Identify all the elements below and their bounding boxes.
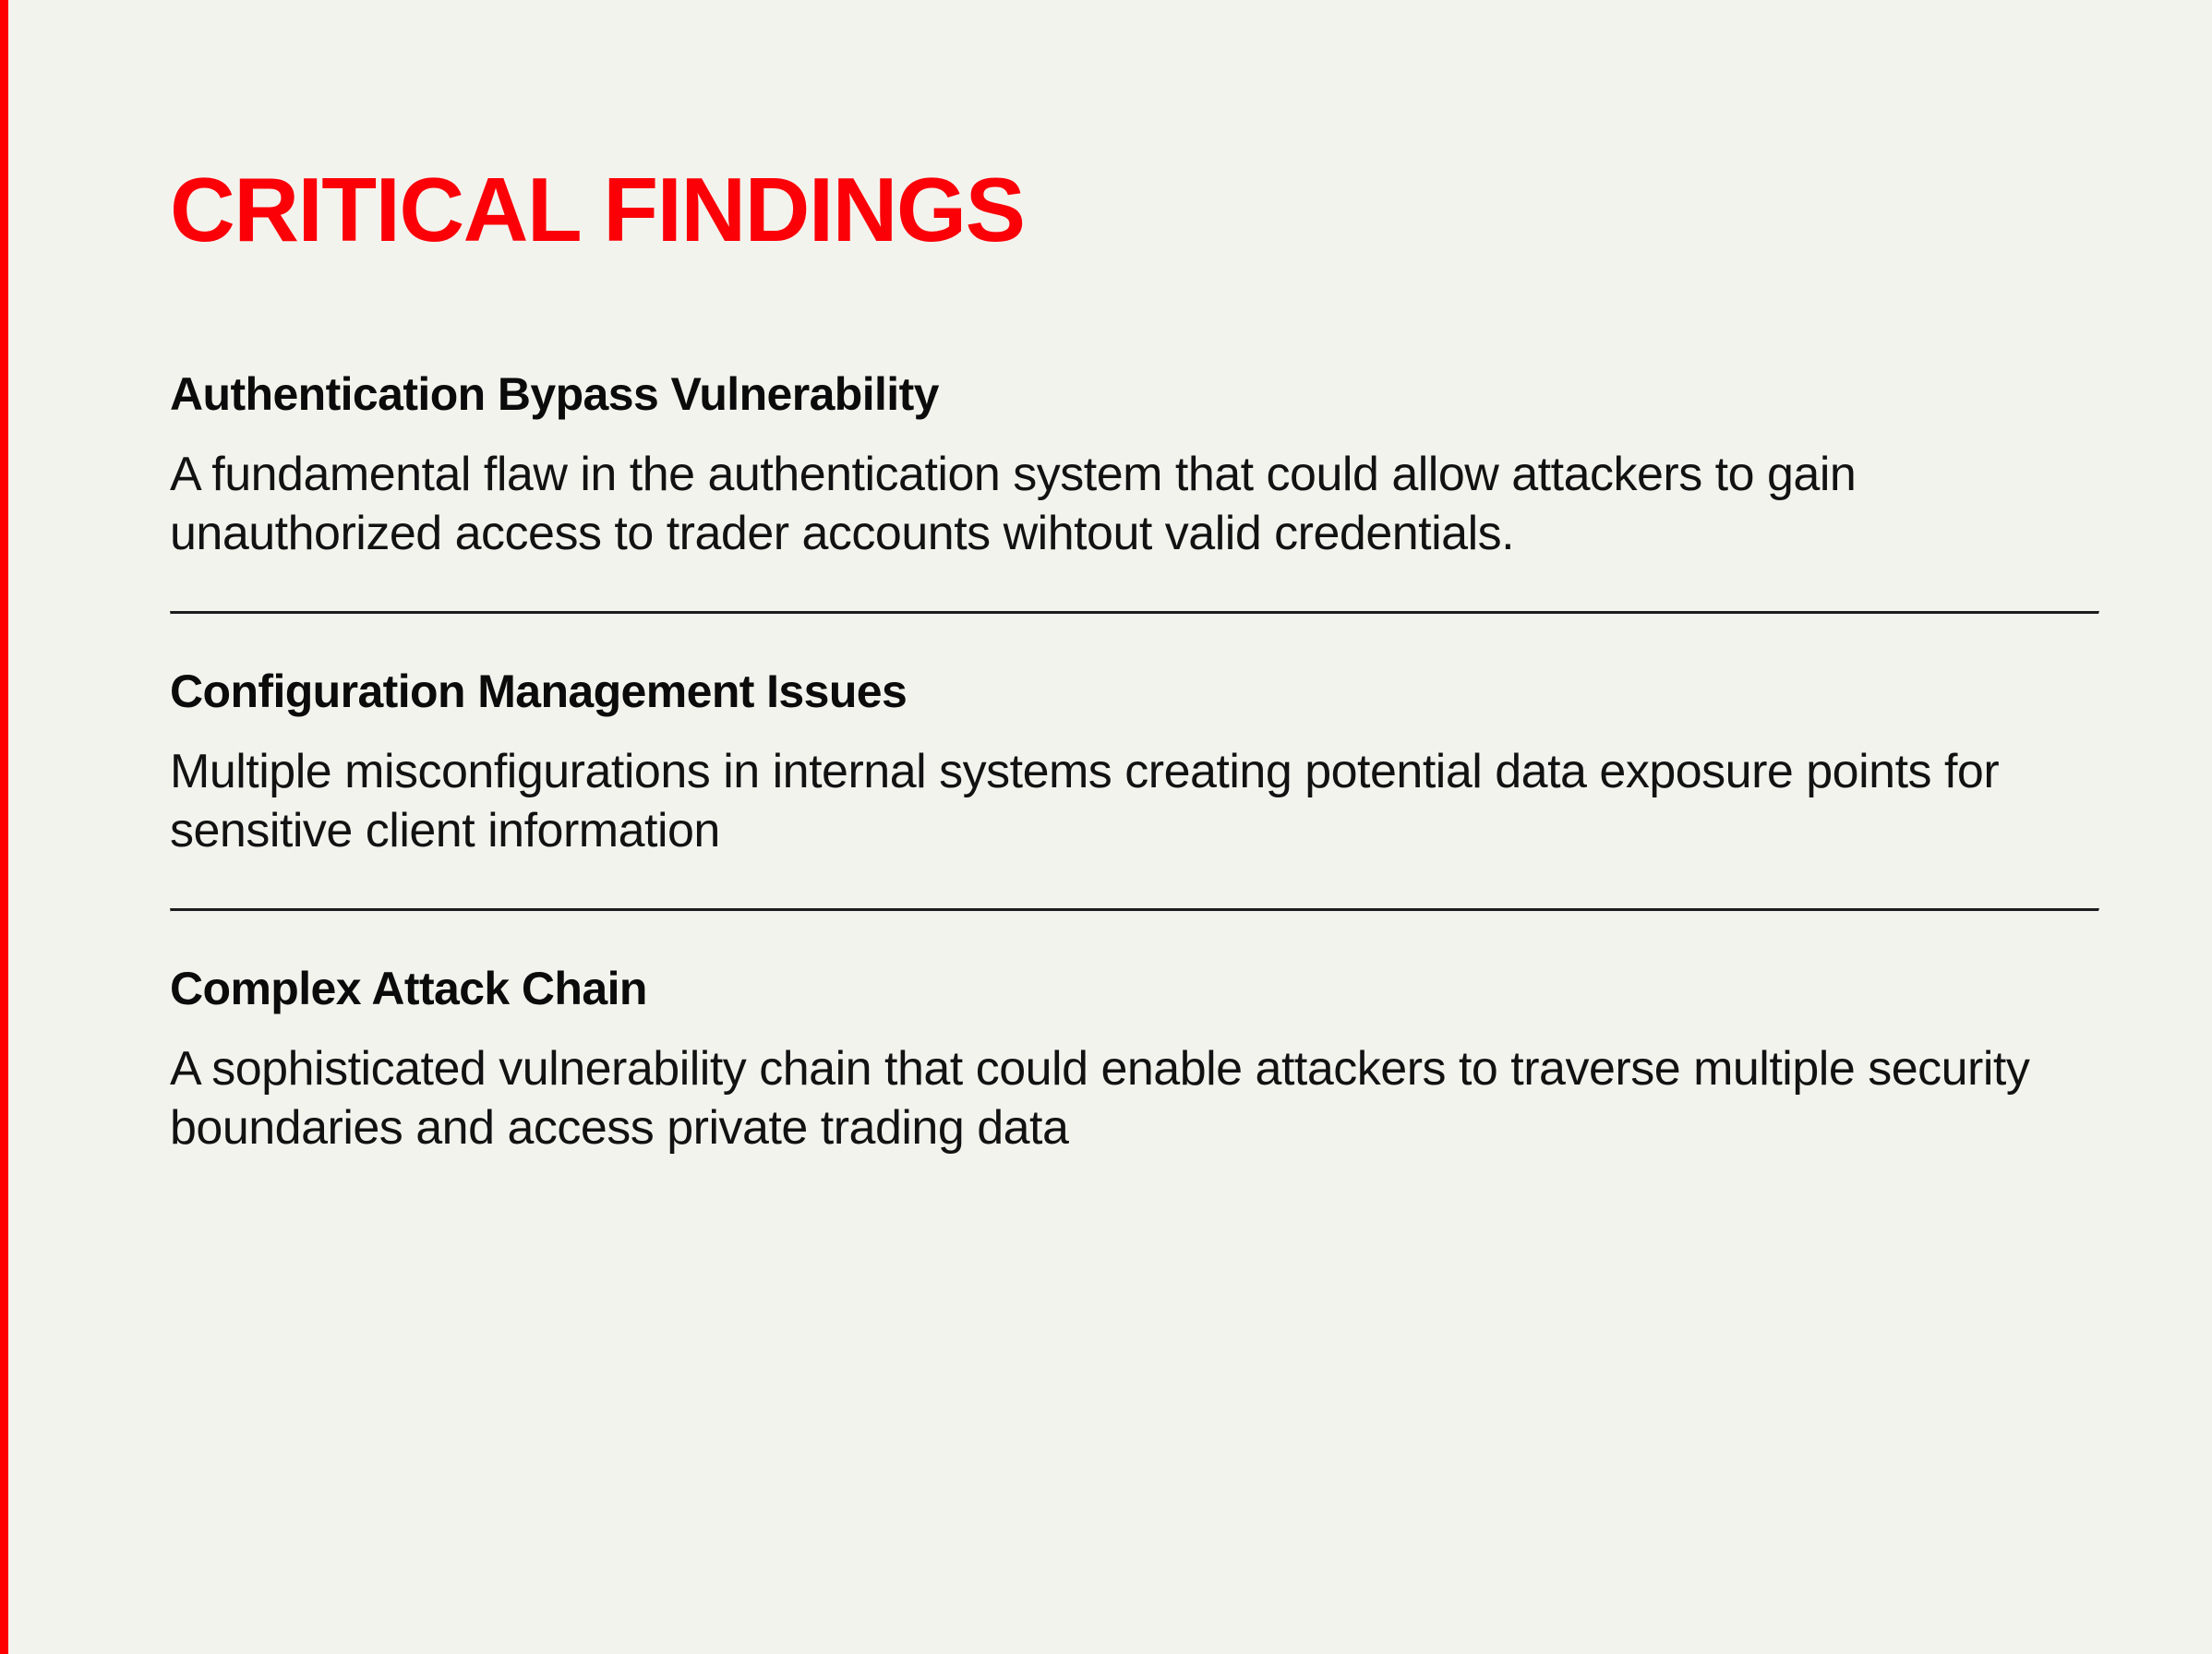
finding-body: A sophisticated vulnerability chain that… [170,1015,2086,1157]
page-title: CRITICAL FINDINGS [170,164,1024,255]
spacer [170,615,2098,665]
slide-content: CRITICAL FINDINGS Authentication Bypass … [170,0,2098,1654]
spacer [170,563,2098,611]
finding-heading: Complex Attack Chain [170,962,2098,1015]
finding-item: Complex Attack Chain A sophisticated vul… [170,962,2098,1157]
finding-heading: Configuration Management Issues [170,665,2098,718]
finding-body: A fundamental flaw in the authentication… [170,421,2086,563]
spacer [170,912,2098,962]
finding-item: Authentication Bypass Vulnerability A fu… [170,367,2098,563]
findings-list: Authentication Bypass Vulnerability A fu… [170,367,2098,1157]
left-accent-bar [0,0,8,1654]
finding-item: Configuration Management Issues Multiple… [170,665,2098,860]
finding-heading: Authentication Bypass Vulnerability [170,367,2098,421]
finding-body: Multiple misconfigurations in internal s… [170,718,2086,860]
spacer [170,860,2098,908]
